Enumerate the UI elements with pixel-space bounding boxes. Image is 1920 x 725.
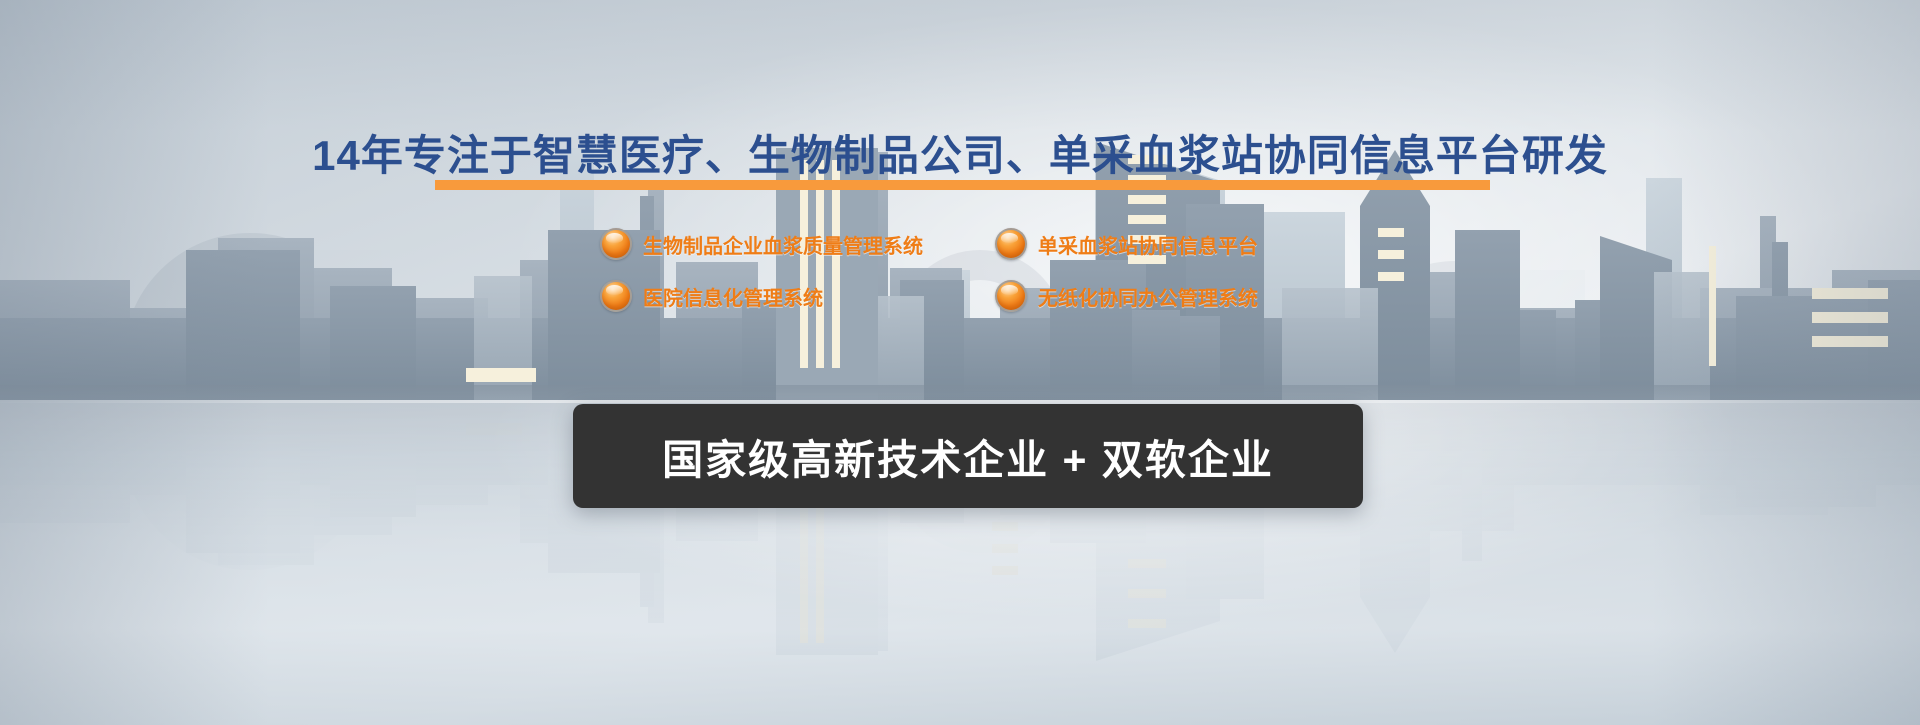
feature-label: 医院信息化管理系统 (643, 282, 823, 311)
orange-sphere-bullet-icon (995, 228, 1027, 260)
certification-badge: 国家级高新技术企业 + 双软企业 (573, 404, 1363, 508)
feature-label: 生物制品企业血浆质量管理系统 (643, 230, 923, 259)
certification-badge-text: 国家级高新技术企业 + 双软企业 (662, 426, 1274, 486)
orange-sphere-bullet-icon (995, 280, 1027, 312)
feature-item-hospital-info[interactable]: 医院信息化管理系统 (600, 280, 995, 312)
feature-item-plasma-quality[interactable]: 生物制品企业血浆质量管理系统 (600, 228, 995, 260)
hero-banner: 14年专注于智慧医疗、生物制品公司、单采血浆站协同信息平台研发 生物制品企业血浆… (0, 0, 1920, 725)
banner-headline: 14年专注于智慧医疗、生物制品公司、单采血浆站协同信息平台研发 (0, 122, 1920, 183)
banner-content: 14年专注于智慧医疗、生物制品公司、单采血浆站协同信息平台研发 生物制品企业血浆… (0, 0, 1920, 725)
orange-sphere-bullet-icon (600, 228, 632, 260)
feature-row: 医院信息化管理系统 无纸化协同办公管理系统 (600, 280, 1360, 312)
feature-list: 生物制品企业血浆质量管理系统 单采血浆站协同信息平台 医院信息化管理系统 无纸化… (600, 228, 1360, 332)
headline-underline-rule (435, 180, 1490, 190)
orange-sphere-bullet-icon (600, 280, 632, 312)
feature-item-plasma-station[interactable]: 单采血浆站协同信息平台 (995, 228, 1360, 260)
feature-label: 无纸化协同办公管理系统 (1038, 282, 1258, 311)
feature-row: 生物制品企业血浆质量管理系统 单采血浆站协同信息平台 (600, 228, 1360, 260)
feature-item-paperless-office[interactable]: 无纸化协同办公管理系统 (995, 280, 1360, 312)
feature-label: 单采血浆站协同信息平台 (1038, 230, 1258, 259)
